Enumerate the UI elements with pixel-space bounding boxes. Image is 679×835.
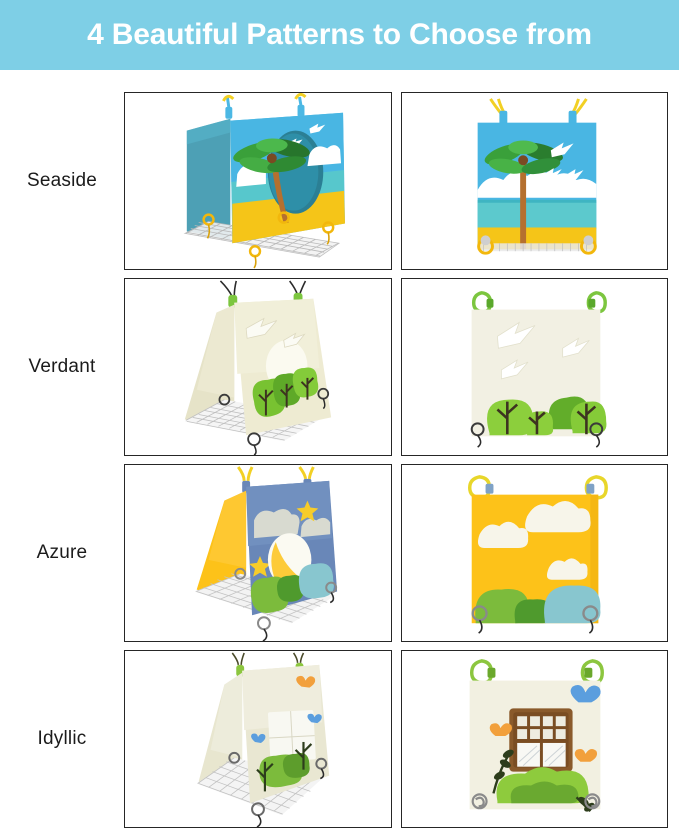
idyllic-flat-illustration [402,651,667,827]
pattern-image-idyllic-tent [124,650,392,828]
pattern-image-idyllic-flat [401,650,668,828]
pattern-image-seaside-tent [124,92,392,270]
pattern-label-azure: Azure [0,542,124,564]
verdant-flat-illustration [402,279,667,455]
azure-tent-illustration [125,465,391,641]
pattern-row-azure: Azure [0,460,679,646]
pattern-image-azure-tent [124,464,392,642]
pattern-image-seaside-flat [401,92,668,270]
pattern-label-verdant: Verdant [0,356,124,378]
pattern-label-seaside: Seaside [0,170,124,192]
seaside-tent-illustration [125,93,391,269]
idyllic-tent-illustration [125,651,391,827]
pattern-row-idyllic: Idyllic [0,646,679,832]
verdant-tent-illustration [125,279,391,455]
pattern-label-idyllic: Idyllic [0,728,124,750]
pattern-row-verdant: Verdant [0,274,679,460]
pattern-grid: Seaside [0,70,679,835]
seaside-flat-illustration [402,93,667,269]
page-title: 4 Beautiful Patterns to Choose from [87,18,592,52]
azure-flat-illustration [402,465,667,641]
pattern-image-azure-flat [401,464,668,642]
page-header-banner: 4 Beautiful Patterns to Choose from [0,0,679,70]
pattern-image-verdant-flat [401,278,668,456]
pattern-row-seaside: Seaside [0,88,679,274]
pattern-image-verdant-tent [124,278,392,456]
